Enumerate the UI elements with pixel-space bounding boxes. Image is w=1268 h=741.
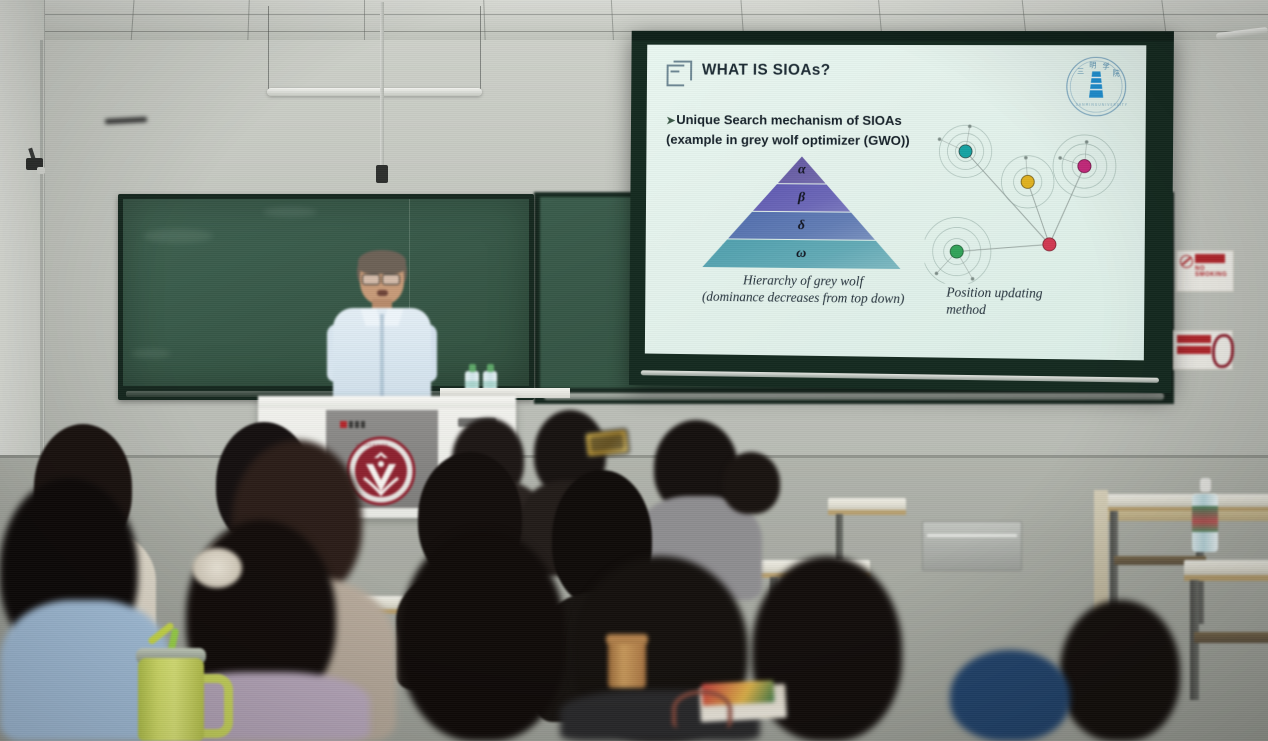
university-logo: 三 明 学 院 S A N M I N G U N I V E R S I T …	[1065, 55, 1128, 118]
fluorescent-tube-light	[267, 88, 482, 96]
projector-screen-rod	[380, 2, 384, 167]
svg-text:S A N M I N G U N I V E R S I: S A N M I N G U N I V E R S I T Y	[1076, 103, 1127, 107]
pyramid-tier-alpha: α	[703, 156, 901, 184]
projection-screen: WHAT IS SIOAs? ➤Unique Search mechanism …	[629, 31, 1174, 393]
svg-text:院: 院	[1113, 68, 1120, 77]
lecturer	[327, 252, 437, 402]
bullet-marker-icon: ➤	[666, 115, 675, 127]
thermos-lid	[606, 634, 648, 644]
tier-label-omega: ω	[796, 246, 806, 262]
rod-handle	[376, 165, 388, 183]
podium-brand-badge	[340, 416, 366, 425]
presentation-slide: WHAT IS SIOAs? ➤Unique Search mechanism …	[645, 45, 1146, 361]
student-head-front	[400, 530, 566, 741]
svg-text:明: 明	[1089, 61, 1096, 69]
yellow-tumbler	[134, 628, 226, 741]
tier-label-beta: β	[798, 190, 805, 206]
left-wall	[0, 0, 45, 460]
pyramid-tier-delta: δ	[703, 211, 901, 240]
bag-strap	[672, 690, 732, 728]
security-camera-icon	[24, 148, 46, 174]
diagram-caption-line-1: Position updating	[946, 284, 1108, 303]
svg-text:学: 学	[1102, 61, 1109, 70]
pyramid-tier-beta: β	[703, 184, 901, 212]
pyramid-tier-omega: ω	[702, 239, 900, 269]
diagram-caption-line-2: method	[946, 301, 1108, 320]
svg-text:三: 三	[1077, 67, 1084, 75]
brown-thermos-cup	[608, 640, 646, 688]
wall-utility-box	[922, 521, 1022, 571]
slide-title: WHAT IS SIOAs?	[702, 62, 831, 80]
tier-label-delta: δ	[798, 218, 805, 234]
pyramid-caption: Hierarchy of grey wolf (dominance decrea…	[655, 270, 953, 307]
position-updating-diagram	[924, 123, 1135, 285]
smartphone-recording	[584, 428, 630, 458]
desk-back-far-right	[1184, 560, 1268, 700]
bullet-line-2: (example in grey wolf optimizer (GWO))	[666, 132, 910, 148]
no-smoking-sign: NO SMOKING	[1176, 250, 1234, 292]
grey-wolf-hierarchy-pyramid: α β δ ω	[702, 156, 901, 269]
student-body-front	[950, 650, 1070, 741]
lecture-hall-photo: NO SMOKING WHAT IS SIOAs? ➤Unique Search…	[0, 0, 1268, 741]
hair-scrunchie	[192, 548, 242, 588]
bracket-frame-icon	[667, 61, 693, 87]
svg-text:U N I V E R S I T Y: U N I V E R S I T Y	[356, 443, 388, 447]
pyramid-caption-line-2: (dominance decreases from top down)	[655, 287, 952, 307]
diagram-caption: Position updating method	[946, 284, 1108, 321]
tier-label-alpha: α	[798, 162, 806, 178]
water-bottle-desk	[1192, 478, 1218, 552]
bullet-line-1: Unique Search mechanism of SIOAs	[676, 112, 902, 128]
student-head-front	[1060, 600, 1180, 741]
student-head	[722, 452, 780, 514]
fire-safety-sign	[1173, 330, 1233, 370]
